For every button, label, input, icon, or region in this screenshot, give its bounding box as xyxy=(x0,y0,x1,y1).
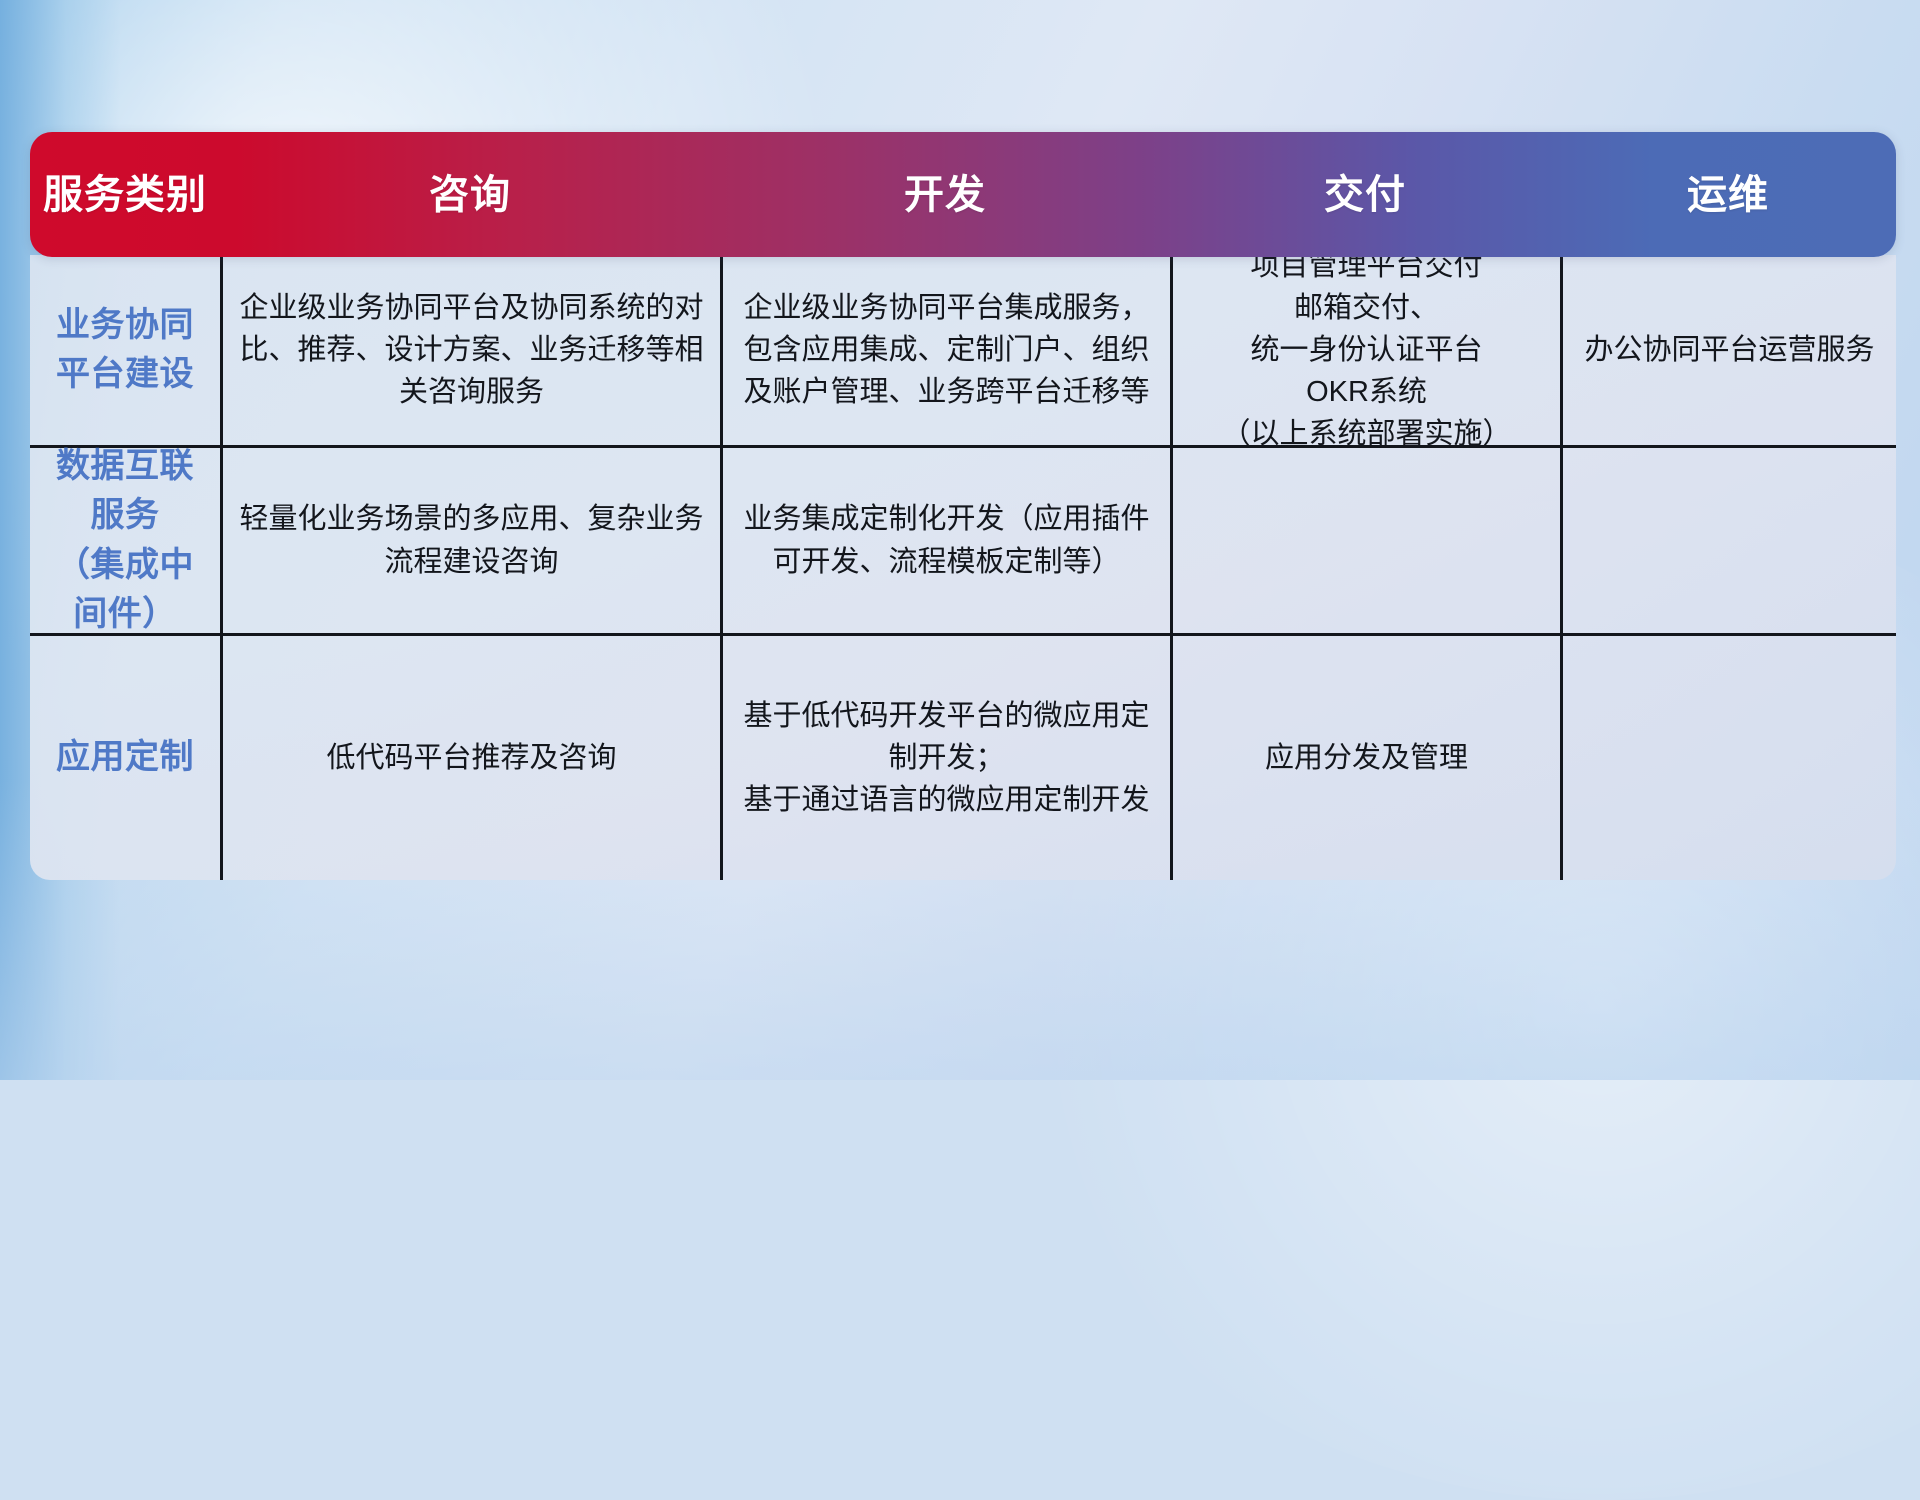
column-header-delivery: 交付 xyxy=(1170,175,1560,215)
cell-delivery xyxy=(1170,448,1560,633)
row-category-label: 业务协同平台建设 xyxy=(56,301,194,400)
cell-consulting: 低代码平台推荐及咨询 xyxy=(220,636,720,880)
cell-consulting: 企业级业务协同平台及协同系统的对比、推荐、设计方案、业务迁移等相关咨询服务 xyxy=(220,255,720,445)
table-row: 业务协同平台建设 企业级业务协同平台及协同系统的对比、推荐、设计方案、业务迁移等… xyxy=(30,255,1896,445)
column-header-operations: 运维 xyxy=(1560,175,1896,215)
cell-operations xyxy=(1560,636,1896,880)
cell-text: 应用分发及管理 xyxy=(1265,737,1468,779)
cell-text: 低代码平台推荐及咨询 xyxy=(326,737,616,779)
table-row: 数据互联服务（集成中间件） 轻量化业务场景的多应用、复杂业务流程建设咨询 业务集… xyxy=(30,445,1896,633)
column-header-consulting: 咨询 xyxy=(220,175,720,215)
cell-development: 企业级业务协同平台集成服务，包含应用集成、定制门户、组织及账户管理、业务跨平台迁… xyxy=(720,255,1170,445)
cell-text: 企业级业务协同平台及协同系统的对比、推荐、设计方案、业务迁移等相关咨询服务 xyxy=(239,287,704,413)
cell-development: 业务集成定制化开发（应用插件可开发、流程模板定制等） xyxy=(720,448,1170,633)
cell-operations: 办公协同平台运营服务 xyxy=(1560,255,1896,445)
cell-development: 基于低代码开发平台的微应用定制开发；基于通过语言的微应用定制开发 xyxy=(720,636,1170,880)
table-body: 业务协同平台建设 企业级业务协同平台及协同系统的对比、推荐、设计方案、业务迁移等… xyxy=(30,255,1896,880)
row-category-cell: 业务协同平台建设 xyxy=(30,255,220,445)
cell-text: 办公协同平台运营服务 xyxy=(1584,329,1874,371)
cell-consulting: 轻量化业务场景的多应用、复杂业务流程建设咨询 xyxy=(220,448,720,633)
cell-text: 基于低代码开发平台的微应用定制开发；基于通过语言的微应用定制开发 xyxy=(739,695,1154,821)
table-header-row: 服务类别 咨询 开发 交付 运维 xyxy=(30,132,1896,257)
column-header-category: 服务类别 xyxy=(30,175,220,215)
row-category-cell: 数据互联服务（集成中间件） xyxy=(30,448,220,633)
cell-delivery: 应用分发及管理 xyxy=(1170,636,1560,880)
row-category-label: 数据互联服务（集成中间件） xyxy=(46,442,204,639)
cell-delivery: 项目管理平台交付邮箱交付、统一身份认证平台OKR系统（以上系统部署实施） xyxy=(1170,255,1560,445)
column-header-development: 开发 xyxy=(720,175,1170,215)
service-matrix-table: 服务类别 咨询 开发 交付 运维 业务协同平台建设 企业级业务协同平台及协同系统… xyxy=(30,132,1896,880)
cell-text: 企业级业务协同平台集成服务，包含应用集成、定制门户、组织及账户管理、业务跨平台迁… xyxy=(739,287,1154,413)
cell-operations xyxy=(1560,448,1896,633)
table-row: 应用定制 低代码平台推荐及咨询 基于低代码开发平台的微应用定制开发；基于通过语言… xyxy=(30,633,1896,880)
cell-text: 轻量化业务场景的多应用、复杂业务流程建设咨询 xyxy=(239,498,704,582)
cell-text: 项目管理平台交付邮箱交付、统一身份认证平台OKR系统（以上系统部署实施） xyxy=(1221,255,1511,455)
row-category-label: 应用定制 xyxy=(56,733,194,782)
cell-text: 业务集成定制化开发（应用插件可开发、流程模板定制等） xyxy=(739,498,1154,582)
row-category-cell: 应用定制 xyxy=(30,636,220,880)
